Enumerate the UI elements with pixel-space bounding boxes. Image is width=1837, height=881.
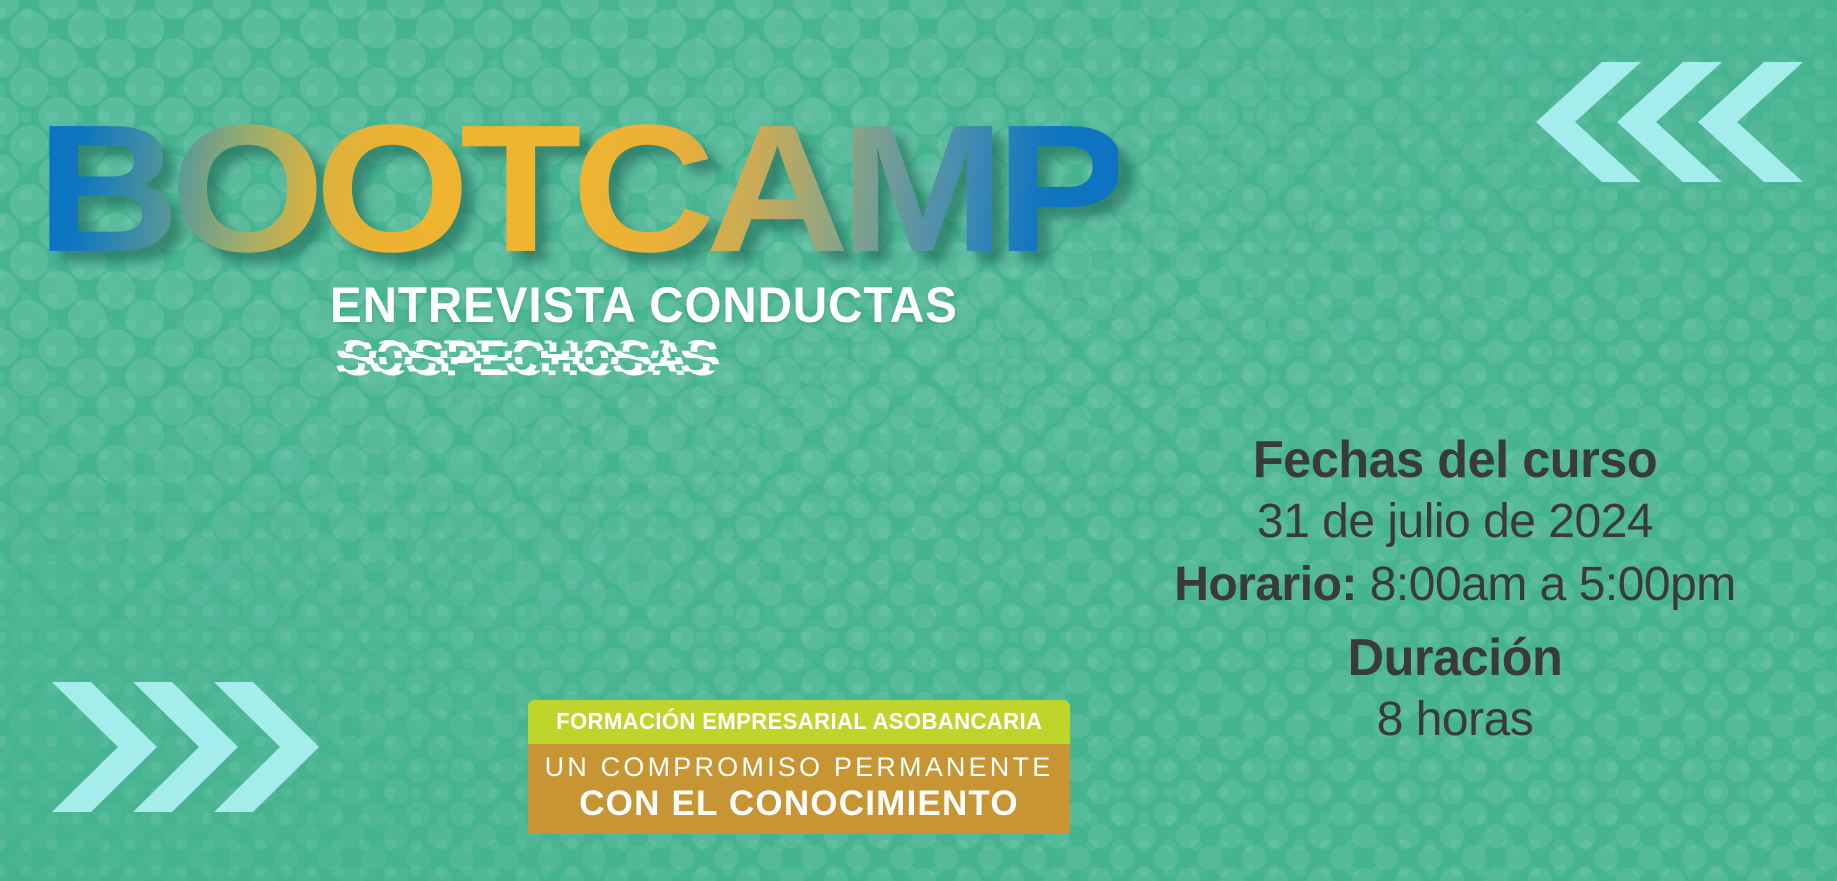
chevron-left-icon [1698, 62, 1803, 182]
chevron-right-icon [52, 682, 157, 812]
chevron-left-icon [1536, 62, 1641, 182]
chevron-group-top-right [1536, 62, 1803, 182]
bootcamp-title: BOOTCAMP BOOTCAMP [36, 98, 1046, 278]
horario-label: Horario: [1174, 558, 1357, 611]
badge-line-3: CON EL CONOCIMIENTO [528, 784, 1070, 824]
horario-value: 8:00am a 5:00pm [1370, 558, 1736, 611]
chevron-right-icon [133, 682, 238, 812]
badge-bottom-bar: UN COMPROMISO PERMANENTE CON EL CONOCIMI… [528, 744, 1070, 834]
fechas-label: Fechas del curso [1067, 428, 1837, 492]
bootcamp-title-text: BOOTCAMP [36, 98, 1118, 280]
subtitle-line-1: ENTREVISTA CONDUCTAS [330, 279, 958, 331]
promo-banner: BOOTCAMP BOOTCAMP ENTREVISTA CONDUCTAS S… [0, 0, 1837, 881]
duracion-label: Duración [1067, 626, 1837, 690]
chevron-right-icon [214, 682, 319, 812]
horario-row: Horario: 8:00am a 5:00pm [1055, 552, 1837, 618]
chevron-group-bottom-left [52, 682, 319, 812]
fechas-value: 31 de julio de 2024 [1055, 492, 1837, 552]
chevron-left-icon [1617, 62, 1722, 182]
badge-line-2: UN COMPROMISO PERMANENTE [528, 750, 1070, 784]
duracion-value: 8 horas [1055, 690, 1837, 750]
asobancaria-badge: FORMACIÓN EMPRESARIAL ASOBANCARIA UN COM… [528, 700, 1070, 834]
subtitle-line-2: SOSPECHOSAS SOSPECHOSAS SOSPECHOSAS SOSP… [338, 332, 758, 394]
badge-line-1: FORMACIÓN EMPRESARIAL ASOBANCARIA [556, 708, 1042, 735]
course-info-block: Fechas del curso 31 de julio de 2024 Hor… [1055, 428, 1837, 750]
badge-top-bar: FORMACIÓN EMPRESARIAL ASOBANCARIA [528, 700, 1070, 744]
